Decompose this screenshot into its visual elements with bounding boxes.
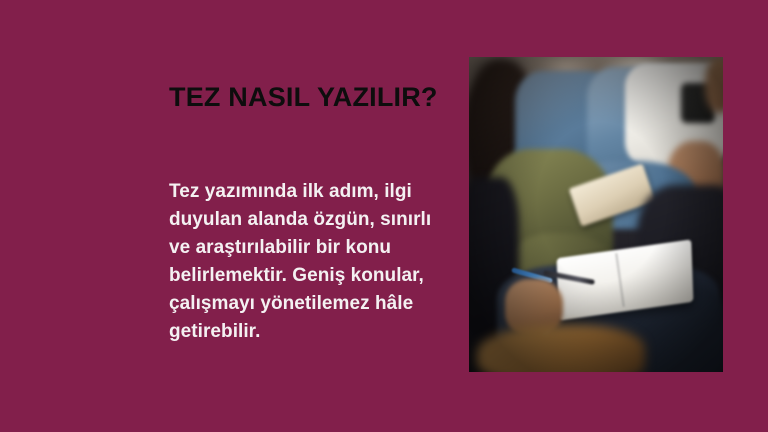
photo-vignette xyxy=(469,57,723,372)
slide-canvas: TEZ NASIL YAZILIR? Tez yazımında ilk adı… xyxy=(0,0,768,432)
body-paragraph: Tez yazımında ilk adım, ilgi duyulan ala… xyxy=(169,114,444,346)
text-column: TEZ NASIL YAZILIR? Tez yazımında ilk adı… xyxy=(169,80,459,346)
photo-image xyxy=(469,57,723,372)
page-title: TEZ NASIL YAZILIR? xyxy=(169,80,459,114)
